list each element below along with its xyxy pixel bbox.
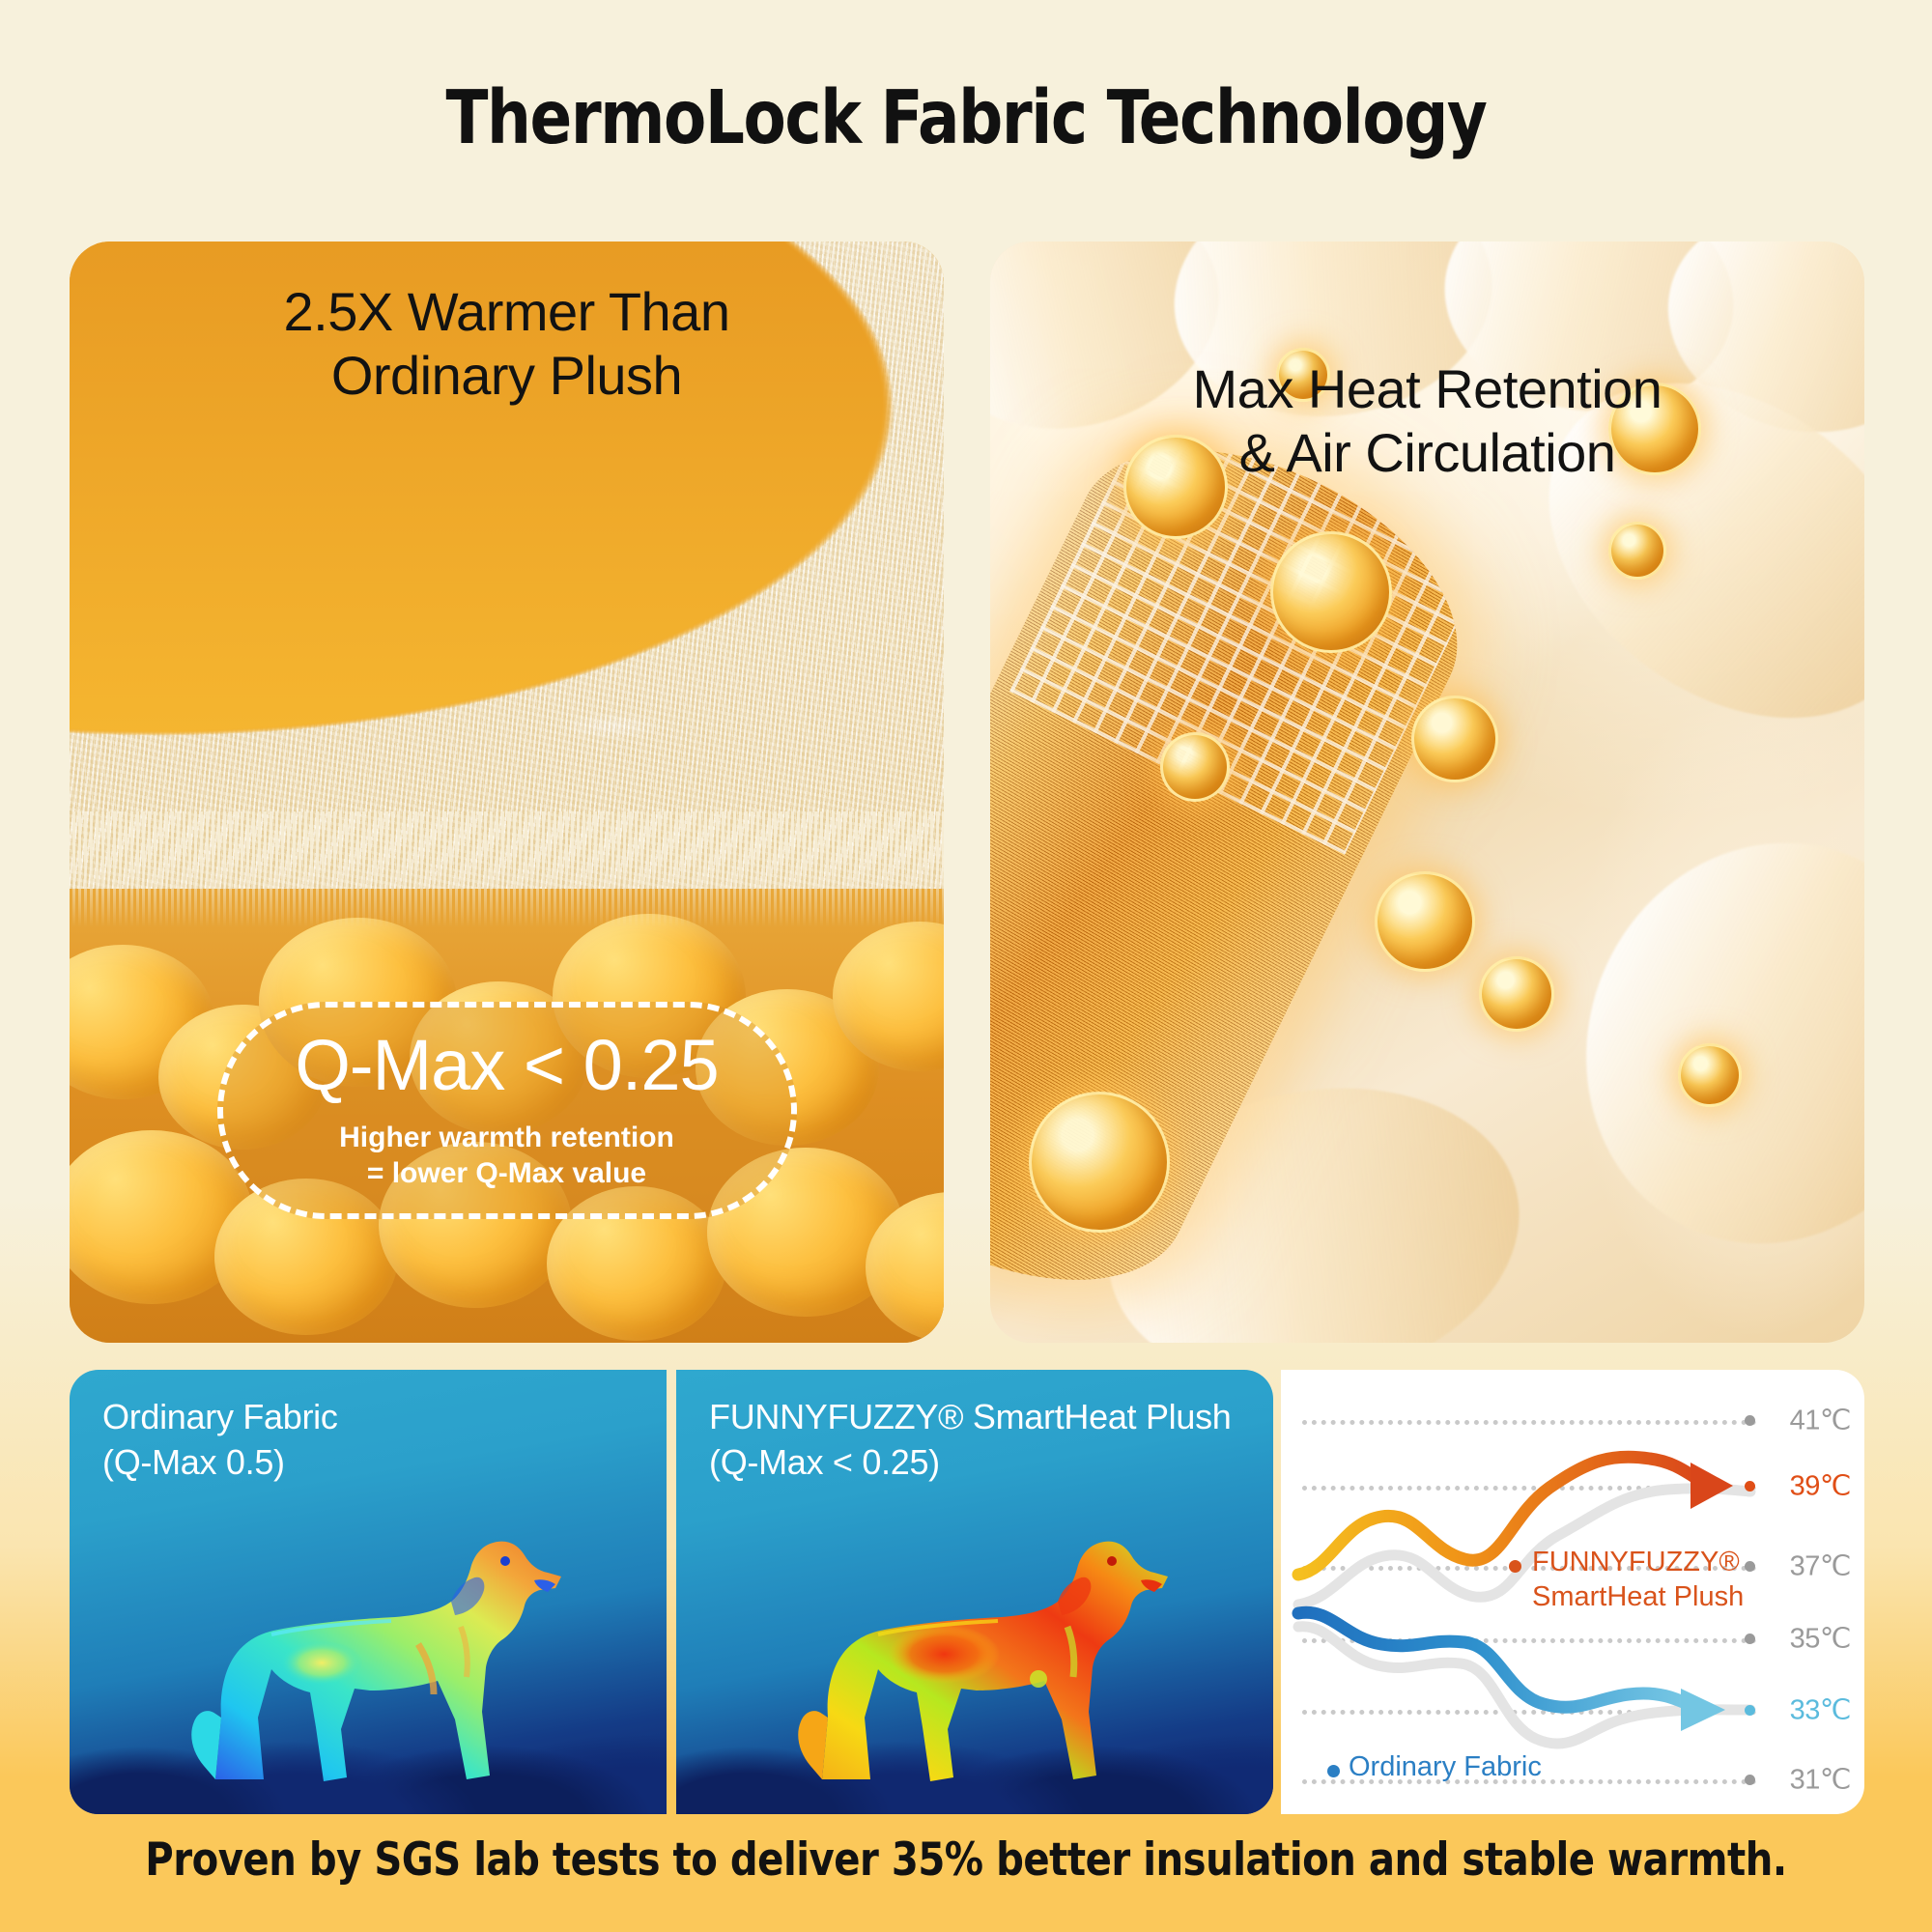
heat-bubble bbox=[1029, 1092, 1170, 1233]
panel-heat-retention: Max Heat Retention & Air Circulation bbox=[990, 241, 1864, 1343]
legend-smartheat: FUNNYFUZZY® SmartHeat Plush bbox=[1532, 1546, 1744, 1615]
thermal-smart-label: FUNNYFUZZY® SmartHeat Plush (Q-Max < 0.2… bbox=[709, 1395, 1232, 1486]
gridline-dot-33 bbox=[1745, 1705, 1755, 1716]
legend-ordinary: Ordinary Fabric bbox=[1349, 1750, 1542, 1785]
gridline-dot-39 bbox=[1745, 1481, 1755, 1492]
qmax-badge: Q-Max < 0.25 Higher warmth retention = l… bbox=[217, 1002, 797, 1219]
legend-smartheat-line2: SmartHeat Plush bbox=[1532, 1580, 1744, 1615]
warmer-heading-line2: Ordinary Plush bbox=[70, 344, 944, 408]
thermal-ordinary-label: Ordinary Fabric (Q-Max 0.5) bbox=[102, 1395, 338, 1486]
heat-bubble bbox=[1678, 1043, 1742, 1107]
thermal-smart-label-line2: (Q-Max < 0.25) bbox=[709, 1440, 1232, 1486]
legend-dot-ordinary bbox=[1327, 1765, 1340, 1777]
gridline-label-37: 37℃ bbox=[1790, 1549, 1851, 1583]
heat-bubble bbox=[1479, 956, 1554, 1032]
panel-warmer: 2.5X Warmer Than Ordinary Plush Q-Max < … bbox=[70, 241, 944, 1343]
gridline-label-31: 31℃ bbox=[1790, 1763, 1851, 1797]
heat-heading-line1: Max Heat Retention bbox=[990, 357, 1864, 421]
thermal-panel-ordinary: Ordinary Fabric (Q-Max 0.5) bbox=[70, 1370, 667, 1814]
gridline-label-39: 39℃ bbox=[1790, 1469, 1851, 1503]
gridline-label-35: 35℃ bbox=[1790, 1622, 1851, 1656]
page-title: ThermoLock Fabric Technology bbox=[68, 75, 1864, 161]
warmer-heading-line1: 2.5X Warmer Than bbox=[70, 280, 944, 344]
gridline-label-33: 33℃ bbox=[1790, 1693, 1851, 1727]
temperature-chart-panel: 41℃ 39℃ 37℃ 35℃ 33℃ 31℃ FUNNYFUZZY® Smar… bbox=[1281, 1370, 1864, 1814]
warmer-heading: 2.5X Warmer Than Ordinary Plush bbox=[70, 280, 944, 408]
thermal-panel-smartheat: FUNNYFUZZY® SmartHeat Plush (Q-Max < 0.2… bbox=[676, 1370, 1273, 1814]
heat-heading-line2: & Air Circulation bbox=[990, 421, 1864, 485]
heat-bubble bbox=[1608, 522, 1666, 580]
gridline-dot-35 bbox=[1745, 1634, 1755, 1644]
qmax-note: Higher warmth retention = lower Q-Max va… bbox=[339, 1121, 674, 1191]
thermal-ordinary-label-line2: (Q-Max 0.5) bbox=[102, 1440, 338, 1486]
legend-dot-smartheat bbox=[1509, 1560, 1521, 1573]
gridline-dot-41 bbox=[1745, 1415, 1755, 1426]
thermal-dog-cool bbox=[165, 1490, 571, 1808]
thermal-ordinary-label-line1: Ordinary Fabric bbox=[102, 1395, 338, 1440]
qmax-note-line2: = lower Q-Max value bbox=[339, 1156, 674, 1192]
heat-bubble bbox=[1270, 531, 1392, 653]
thermal-dog-warm bbox=[772, 1490, 1178, 1808]
footer-caption: Proven by SGS lab tests to deliver 35% b… bbox=[48, 1833, 1884, 1887]
plush-fringe bbox=[70, 811, 944, 927]
gridline-label-41: 41℃ bbox=[1790, 1404, 1851, 1437]
heat-heading: Max Heat Retention & Air Circulation bbox=[990, 357, 1864, 485]
gridline-dot-37 bbox=[1745, 1561, 1755, 1572]
thermal-smart-label-line1: FUNNYFUZZY® SmartHeat Plush bbox=[709, 1395, 1232, 1440]
legend-smartheat-line1: FUNNYFUZZY® bbox=[1532, 1546, 1744, 1580]
heat-bubble bbox=[1160, 732, 1230, 802]
qmax-value: Q-Max < 0.25 bbox=[295, 1030, 718, 1101]
gridline-dot-31 bbox=[1745, 1775, 1755, 1785]
heat-bubble bbox=[1375, 871, 1475, 972]
heat-bubble bbox=[1411, 696, 1498, 782]
qmax-note-line1: Higher warmth retention bbox=[339, 1121, 674, 1156]
